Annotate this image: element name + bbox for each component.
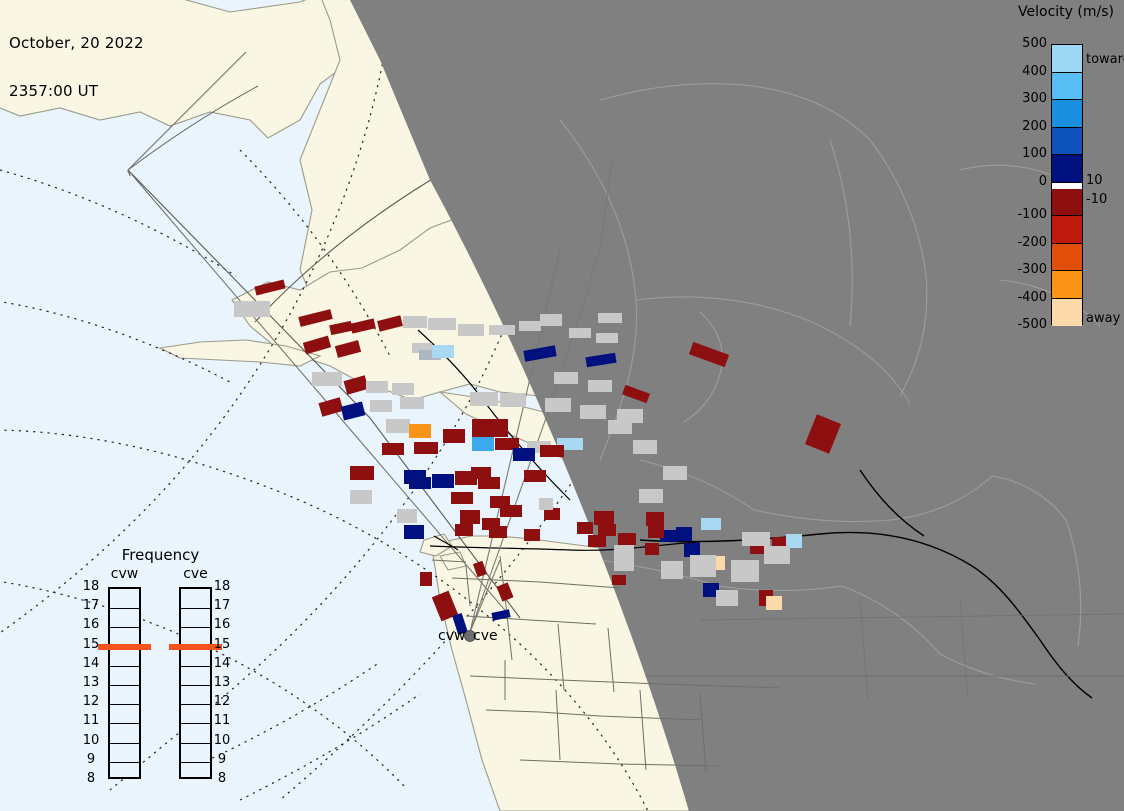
radar-cell xyxy=(612,575,626,585)
velocity-color-segment xyxy=(1052,189,1082,217)
frequency-gridline xyxy=(181,666,210,667)
radar-cell xyxy=(472,419,508,437)
radar-cell xyxy=(409,477,431,489)
velocity-color-segment xyxy=(1052,271,1082,299)
radar-cell xyxy=(403,316,427,328)
velocity-color-segment xyxy=(1052,45,1082,73)
velocity-color-segment xyxy=(1052,100,1082,128)
radar-cell xyxy=(400,397,424,409)
frequency-gridline xyxy=(110,743,139,744)
radar-cell xyxy=(478,477,500,489)
away-label: away xyxy=(1086,313,1120,325)
radar-cell xyxy=(701,518,721,530)
frequency-tick-label: 10 xyxy=(209,735,235,747)
velocity-color-segment xyxy=(1052,299,1082,327)
velocity-color-segment xyxy=(1052,128,1082,156)
radar-cell xyxy=(588,380,612,392)
velocity-color-segment xyxy=(1052,244,1082,272)
frequency-tick-label: 14 xyxy=(78,658,104,670)
radar-cell xyxy=(366,381,388,393)
frequency-tick-label: 13 xyxy=(209,677,235,689)
frequency-tick-label: 14 xyxy=(209,658,235,670)
site-label-cvw: cvw xyxy=(438,628,465,644)
velocity-tick-label: -500 xyxy=(1005,319,1047,331)
radar-cell xyxy=(312,372,342,386)
frequency-scale-cve xyxy=(179,587,212,779)
radar-cell xyxy=(742,532,770,546)
frequency-tick-label: 18 xyxy=(209,581,235,593)
frequency-tick-label: 12 xyxy=(209,696,235,708)
velocity-color-segment xyxy=(1052,216,1082,244)
frequency-tick-label: 9 xyxy=(209,754,235,766)
radar-cell xyxy=(594,511,614,525)
velocity-tick-label: 100 xyxy=(1005,148,1047,160)
frequency-gridline xyxy=(110,666,139,667)
radar-cell xyxy=(690,555,716,577)
frequency-gridline xyxy=(181,723,210,724)
radar-cell xyxy=(539,498,553,510)
frequency-tick-label: 9 xyxy=(78,754,104,766)
velocity-side-labels: toward10-10away xyxy=(1086,32,1124,332)
frequency-gridline xyxy=(110,627,139,628)
velocity-tick-labels: 5004003002001000-100-200-300-400-500 xyxy=(1005,32,1047,332)
radar-cell xyxy=(569,328,591,338)
velocity-plus-ten-label: 10 xyxy=(1086,175,1103,187)
velocity-legend-title: Velocity (m/s) xyxy=(1008,4,1124,20)
velocity-tick-label: -300 xyxy=(1005,264,1047,276)
radar-cell xyxy=(676,527,692,541)
frequency-tick-label: 18 xyxy=(78,581,104,593)
radar-cell xyxy=(588,535,606,547)
radar-cell xyxy=(639,489,663,503)
radar-map-canvas: October, 20 2022 2357:00 UT Velocity (m/… xyxy=(0,0,1124,811)
frequency-gridline xyxy=(181,685,210,686)
radar-cell xyxy=(598,313,622,323)
velocity-color-scale xyxy=(1051,44,1083,325)
radar-cell xyxy=(432,345,454,358)
radar-cell xyxy=(432,474,454,488)
frequency-gridline xyxy=(181,762,210,763)
radar-cell xyxy=(455,524,473,536)
radar-cell xyxy=(786,534,802,548)
frequency-gridline xyxy=(110,762,139,763)
radar-cell xyxy=(633,440,657,454)
velocity-tick-label: 200 xyxy=(1005,121,1047,133)
velocity-colorbar-legend: Velocity (m/s) 5004003002001000-100-200-… xyxy=(1005,2,1124,342)
radar-cell xyxy=(608,420,632,434)
radar-cell xyxy=(764,546,790,564)
frequency-tick-label: 10 xyxy=(78,735,104,747)
title-date: October, 20 2022 xyxy=(9,35,144,51)
frequency-gridline xyxy=(181,627,210,628)
timestamp-title: October, 20 2022 2357:00 UT xyxy=(9,3,144,131)
velocity-tick-label: 300 xyxy=(1005,93,1047,105)
radar-cell xyxy=(500,505,522,517)
frequency-gridline xyxy=(110,608,139,609)
radar-cell xyxy=(404,525,424,539)
radar-cell xyxy=(646,512,664,526)
frequency-tick-label: 17 xyxy=(209,600,235,612)
velocity-tick-label: 0 xyxy=(1005,176,1047,188)
radar-cell xyxy=(716,590,738,606)
radar-cell xyxy=(443,429,465,443)
velocity-tick-label: -200 xyxy=(1005,237,1047,249)
radar-cell xyxy=(524,470,546,482)
radar-cell xyxy=(489,325,515,335)
frequency-tick-label: 16 xyxy=(209,619,235,631)
frequency-tick-label: 17 xyxy=(78,600,104,612)
frequency-tick-label: 16 xyxy=(78,619,104,631)
radar-cell xyxy=(409,424,431,438)
frequency-legend-title: Frequency xyxy=(78,546,243,564)
velocity-tick-label: 500 xyxy=(1005,38,1047,50)
radar-cell xyxy=(519,321,541,331)
site-label-cve: cve xyxy=(473,628,498,644)
frequency-legend: Frequency cvw18171615141312111098cve1817… xyxy=(78,546,243,796)
frequency-tick-label: 8 xyxy=(209,773,235,785)
velocity-minus-ten-label: -10 xyxy=(1086,194,1107,206)
radar-cell xyxy=(618,533,636,545)
frequency-scale-cvw xyxy=(108,587,141,779)
frequency-gridline xyxy=(110,723,139,724)
frequency-tick-label: 15 xyxy=(78,639,104,651)
radar-cell xyxy=(545,398,571,412)
radar-cell xyxy=(598,524,616,536)
radar-cell xyxy=(540,314,562,326)
radar-cell xyxy=(386,419,410,433)
radar-cell xyxy=(234,301,270,317)
radar-cell xyxy=(580,405,606,419)
velocity-tick-label: -400 xyxy=(1005,292,1047,304)
radar-cell xyxy=(645,543,659,555)
radar-cell xyxy=(731,560,759,582)
velocity-tick-label: 400 xyxy=(1005,66,1047,78)
radar-cell xyxy=(458,324,484,336)
radar-cell xyxy=(663,466,687,480)
radar-cell xyxy=(470,392,498,406)
radar-cell xyxy=(350,490,372,504)
radar-cell xyxy=(451,492,473,504)
frequency-tick-label: 15 xyxy=(209,639,235,651)
radar-cell xyxy=(513,448,535,461)
title-time: 2357:00 UT xyxy=(9,83,144,99)
radar-cell xyxy=(397,509,417,523)
velocity-color-segment xyxy=(1052,73,1082,101)
frequency-column-label-cvw: cvw xyxy=(96,566,153,582)
radar-cell xyxy=(428,318,456,330)
radar-cell xyxy=(420,572,432,586)
frequency-marker-cvw xyxy=(98,644,151,650)
radar-cell xyxy=(614,545,634,571)
radar-cell xyxy=(577,522,593,534)
radar-cell xyxy=(350,466,374,480)
velocity-color-segment xyxy=(1052,155,1082,183)
frequency-tick-label: 11 xyxy=(209,715,235,727)
radar-cell xyxy=(414,442,438,454)
frequency-gridline xyxy=(110,704,139,705)
radar-cell xyxy=(489,526,507,538)
radar-cell xyxy=(460,510,480,524)
radar-cell xyxy=(540,445,564,457)
radar-cell xyxy=(370,400,392,412)
frequency-gridline xyxy=(110,685,139,686)
radar-cell xyxy=(382,443,404,455)
radar-cell xyxy=(684,543,700,557)
frequency-tick-label: 13 xyxy=(78,677,104,689)
frequency-gridline xyxy=(181,704,210,705)
frequency-gridline xyxy=(181,608,210,609)
frequency-gridline xyxy=(181,743,210,744)
radar-cell xyxy=(392,383,414,395)
radar-cell xyxy=(596,333,618,343)
velocity-tick-label: -100 xyxy=(1005,209,1047,221)
frequency-tick-label: 12 xyxy=(78,696,104,708)
radar-cell xyxy=(648,524,664,538)
radar-cell xyxy=(766,596,782,610)
radar-cell xyxy=(500,393,526,407)
radar-cell xyxy=(524,529,540,541)
frequency-tick-label: 8 xyxy=(78,773,104,785)
toward-label: toward xyxy=(1086,54,1124,66)
frequency-tick-label: 11 xyxy=(78,715,104,727)
radar-cell xyxy=(554,372,578,384)
radar-cell xyxy=(472,437,494,451)
radar-cell xyxy=(661,561,683,579)
